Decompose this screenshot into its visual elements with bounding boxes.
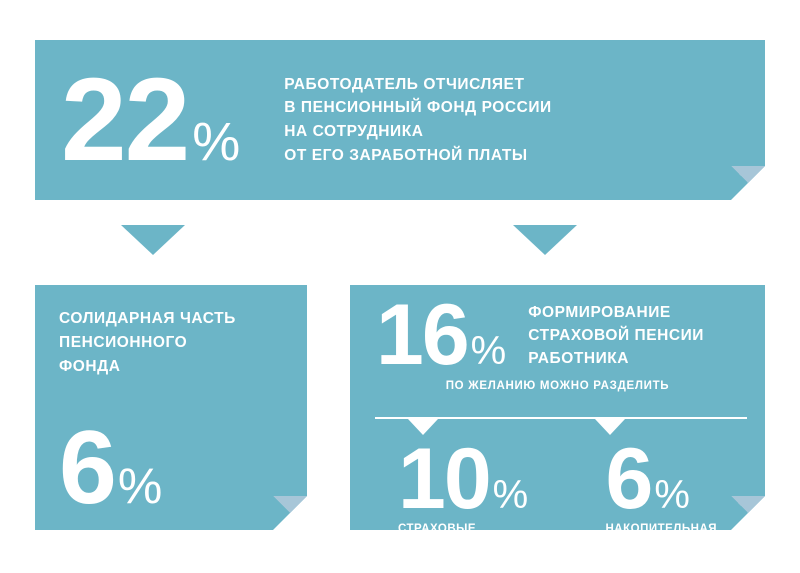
top-panel-value: 22	[61, 70, 188, 170]
right-panel-headline: ФОРМИРОВАНИЕ СТРАХОВОЙ ПЕНСИИ РАБОТНИКА	[528, 301, 704, 371]
left-panel-title-line-2: ПЕНСИОННОГО	[59, 331, 287, 355]
right-panel-stat: 16 %	[376, 299, 506, 372]
right-panel-headline-line-2: СТРАХОВОЙ ПЕНСИИ	[528, 324, 704, 347]
sub-item-stat: 10 %	[398, 443, 558, 516]
right-panel-header: 16 % ФОРМИРОВАНИЕ СТРАХОВОЙ ПЕНСИИ РАБОТ…	[350, 299, 765, 372]
sub-item-value: 6	[606, 443, 652, 516]
percent-symbol-icon: %	[493, 475, 529, 515]
top-panel-headline-line-2: В ПЕНСИОННЫЙ ФОНД РОССИИ	[284, 96, 551, 120]
arrow-down-icon-right	[513, 225, 577, 255]
sub-item-funded-part: 6 % НАКОПИТЕЛЬНАЯ ЧАСТЬ ПЕНСИИ	[558, 443, 766, 553]
arrow-down-icon-left	[121, 225, 185, 255]
left-panel-title-line-3: ФОНДА	[59, 355, 287, 379]
top-panel-content: 22 % РАБОТОДАТЕЛЬ ОТЧИСЛЯЕТ В ПЕНСИОННЫЙ…	[35, 40, 765, 200]
sub-item-value: 10	[398, 443, 490, 516]
top-panel: 22 % РАБОТОДАТЕЛЬ ОТЧИСЛЯЕТ В ПЕНСИОННЫЙ…	[35, 40, 765, 200]
sub-item-label-line-2: ПЕНСИОННЫЕ ВЗНОСЫ	[398, 538, 558, 554]
percent-symbol-icon: %	[118, 461, 162, 511]
sub-items: 10 % СТРАХОВЫЕ ПЕНСИОННЫЕ ВЗНОСЫ 6 % НАК…	[350, 443, 765, 553]
sub-item-stat: 6 %	[606, 443, 766, 516]
left-panel-title-line-1: СОЛИДАРНАЯ ЧАСТЬ	[59, 307, 287, 331]
sub-item-insurance-contributions: 10 % СТРАХОВЫЕ ПЕНСИОННЫЕ ВЗНОСЫ	[350, 443, 558, 553]
percent-symbol-icon: %	[192, 115, 240, 169]
right-panel-headline-line-1: ФОРМИРОВАНИЕ	[528, 301, 704, 324]
percent-symbol-icon: %	[471, 331, 507, 371]
left-panel-title: СОЛИДАРНАЯ ЧАСТЬ ПЕНСИОННОГО ФОНДА	[59, 307, 287, 379]
top-panel-headline-line-3: НА СОТРУДНИКА	[284, 120, 551, 144]
sub-item-label-line-1: НАКОПИТЕЛЬНАЯ	[606, 522, 766, 538]
sub-item-label-line-2: ЧАСТЬ ПЕНСИИ	[606, 538, 766, 554]
solidarity-part-panel: СОЛИДАРНАЯ ЧАСТЬ ПЕНСИОННОГО ФОНДА 6 %	[35, 285, 307, 530]
right-panel-value: 16	[376, 299, 468, 372]
top-panel-headline-line-1: РАБОТОДАТЕЛЬ ОТЧИСЛЯЕТ	[284, 73, 551, 97]
left-panel-stat: 6 %	[59, 424, 162, 512]
left-panel-content: СОЛИДАРНАЯ ЧАСТЬ ПЕНСИОННОГО ФОНДА 6 %	[35, 285, 307, 530]
right-panel-content: 16 % ФОРМИРОВАНИЕ СТРАХОВОЙ ПЕНСИИ РАБОТ…	[350, 285, 765, 530]
right-panel-headline-line-3: РАБОТНИКА	[528, 347, 704, 370]
top-panel-headline: РАБОТОДАТЕЛЬ ОТЧИСЛЯЕТ В ПЕНСИОННЫЙ ФОНД…	[284, 73, 551, 167]
left-panel-value: 6	[59, 424, 115, 512]
top-panel-headline-line-4: ОТ ЕГО ЗАРАБОТНОЙ ПЛАТЫ	[284, 144, 551, 168]
sub-item-label: НАКОПИТЕЛЬНАЯ ЧАСТЬ ПЕНСИИ	[606, 522, 766, 553]
top-panel-stat: 22 %	[61, 70, 240, 170]
insurance-pension-panel: 16 % ФОРМИРОВАНИЕ СТРАХОВОЙ ПЕНСИИ РАБОТ…	[350, 285, 765, 530]
percent-symbol-icon: %	[654, 475, 690, 515]
